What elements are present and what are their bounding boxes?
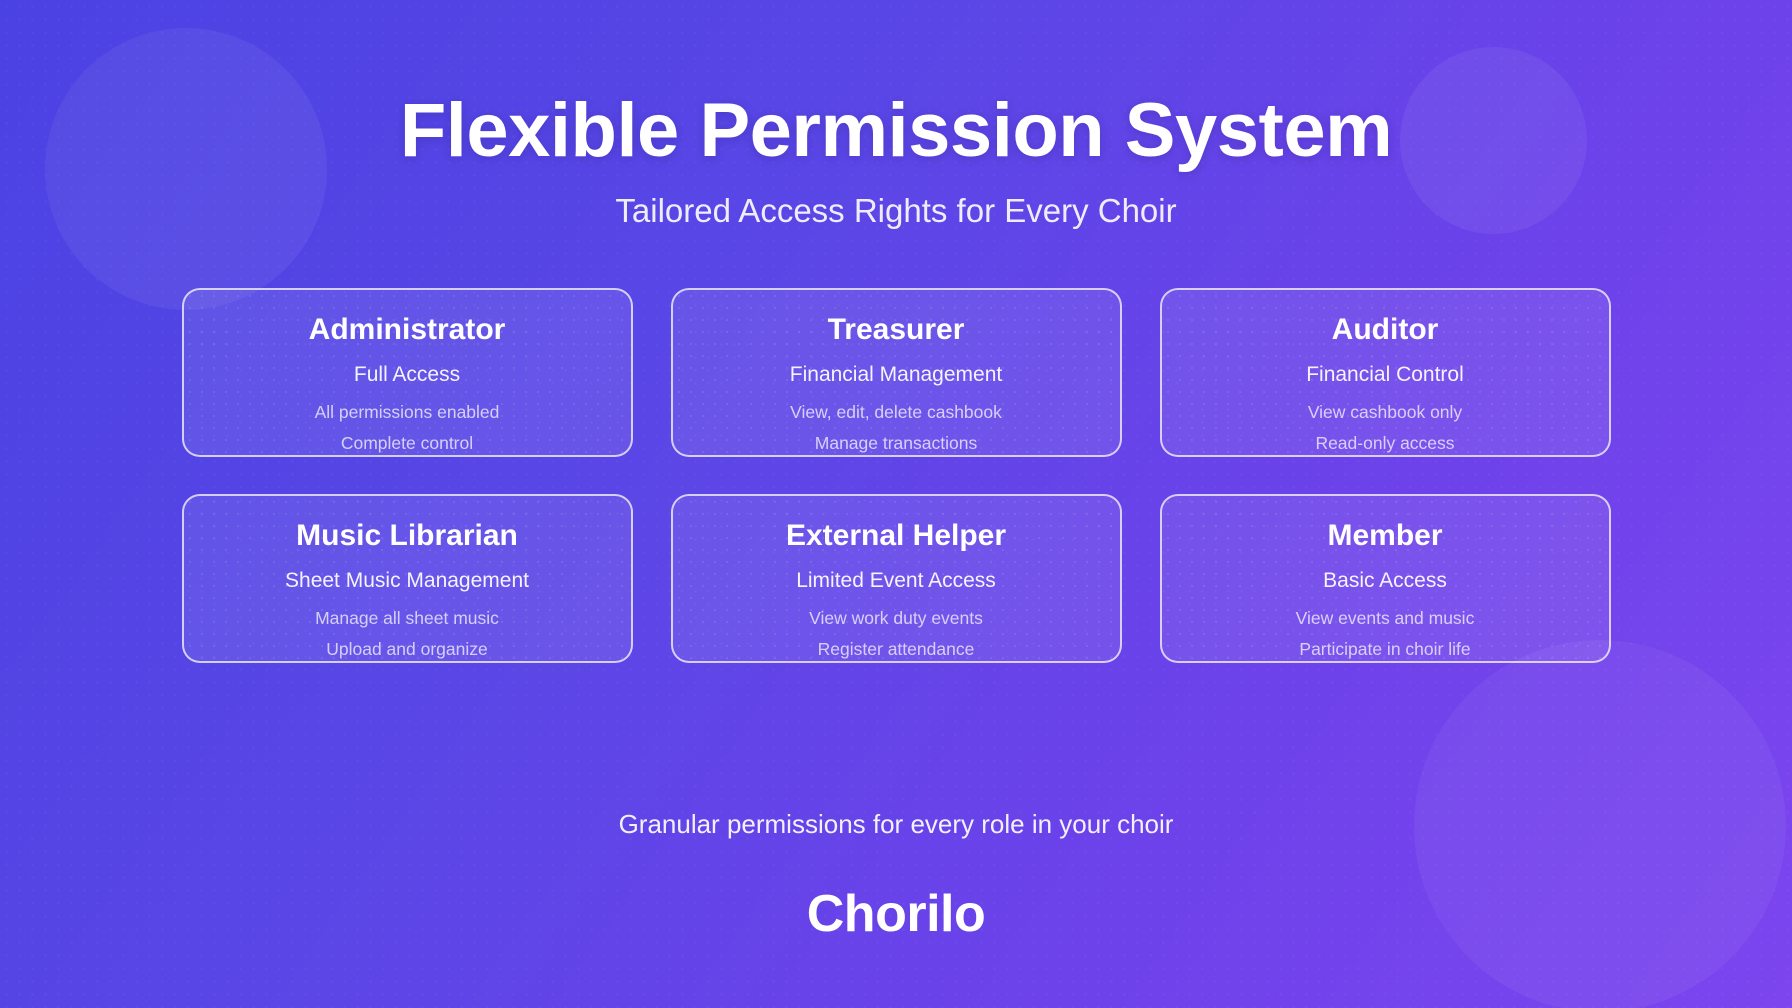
role-card-administrator[interactable]: Administrator Full Access All permission… [182,288,633,457]
role-card-music-librarian[interactable]: Music Librarian Sheet Music Management M… [182,494,633,663]
footer-note: Granular permissions for every role in y… [619,809,1174,840]
role-name: Member [1327,518,1442,554]
slide-content: Flexible Permission System Tailored Acce… [0,0,1792,1008]
role-tagline: Full Access [354,363,460,387]
role-tagline: Financial Management [790,363,1002,387]
role-detail-1: All permissions enabled [315,400,500,425]
role-tagline: Limited Event Access [796,569,996,593]
role-detail-2: Read-only access [1315,431,1454,456]
role-detail-2: Upload and organize [326,637,488,662]
role-card-treasurer[interactable]: Treasurer Financial Management View, edi… [671,288,1122,457]
role-detail-2: Participate in choir life [1299,637,1470,662]
brand-wordmark: Chorilo [807,884,985,944]
role-name: Administrator [309,312,506,348]
page-subtitle: Tailored Access Rights for Every Choir [615,192,1176,230]
role-detail-2: Manage transactions [815,431,977,456]
role-name: Music Librarian [296,518,518,554]
role-card-auditor[interactable]: Auditor Financial Control View cashbook … [1160,288,1611,457]
role-name: Auditor [1332,312,1439,348]
role-detail-2: Register attendance [818,637,975,662]
role-detail-1: View cashbook only [1308,400,1462,425]
role-detail-2: Complete control [341,431,473,456]
role-name: External Helper [786,518,1006,554]
role-card-member[interactable]: Member Basic Access View events and musi… [1160,494,1611,663]
role-card-grid: Administrator Full Access All permission… [182,288,1611,663]
role-tagline: Financial Control [1306,363,1464,387]
role-detail-1: View events and music [1296,606,1475,631]
role-detail-1: View, edit, delete cashbook [790,400,1002,425]
role-name: Treasurer [828,312,965,348]
role-detail-1: Manage all sheet music [315,606,499,631]
role-card-external-helper[interactable]: External Helper Limited Event Access Vie… [671,494,1122,663]
role-detail-1: View work duty events [809,606,983,631]
role-tagline: Sheet Music Management [285,569,529,593]
page-title: Flexible Permission System [400,92,1392,170]
role-tagline: Basic Access [1323,569,1447,593]
